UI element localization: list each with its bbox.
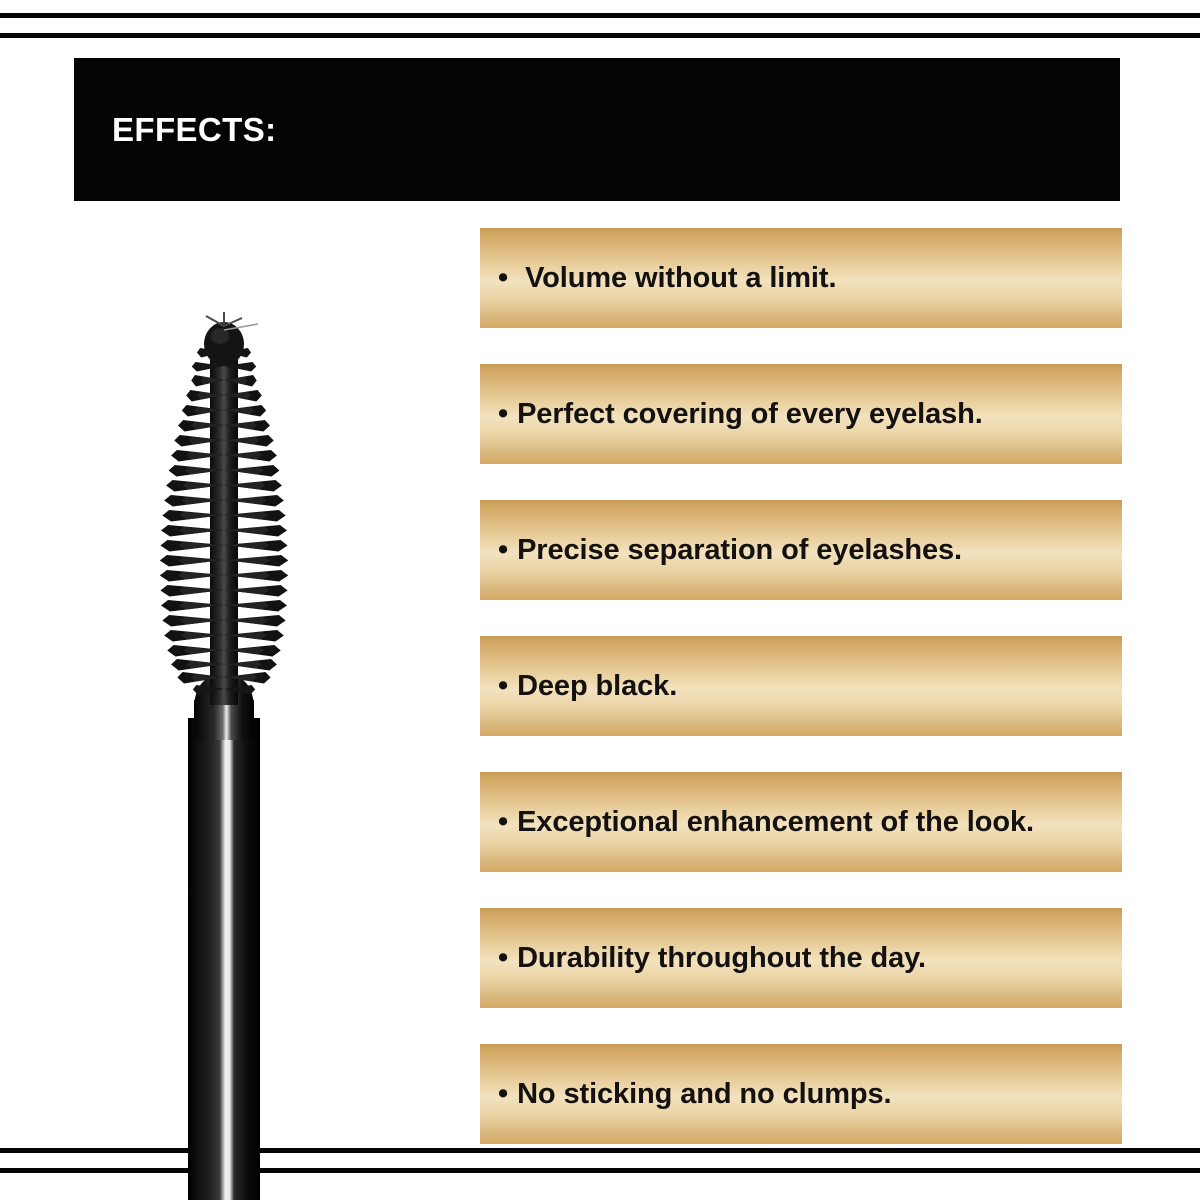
effect-item[interactable]: • Deep black. <box>480 636 1122 736</box>
bullet-icon: • <box>498 944 508 973</box>
top-rule-line-1 <box>0 13 1200 18</box>
effect-label: No sticking and no clumps. <box>517 1080 891 1109</box>
effect-item[interactable]: • Perfect covering of every eyelash. <box>480 364 1122 464</box>
page-title: EFFECTS: <box>74 113 277 146</box>
effect-item[interactable]: • Volume without a limit. <box>480 228 1122 328</box>
effect-label: Perfect covering of every eyelash. <box>517 400 983 429</box>
effect-item[interactable]: • Durability throughout the day. <box>480 908 1122 1008</box>
effect-text-wrap: • Exceptional enhancement of the look. <box>480 808 1034 837</box>
effect-text-wrap: • Precise separation of eyelashes. <box>480 536 962 565</box>
effect-item[interactable]: • Precise separation of eyelashes. <box>480 500 1122 600</box>
effect-item[interactable]: • Exceptional enhancement of the look. <box>480 772 1122 872</box>
bullet-icon: • <box>498 808 508 837</box>
header-banner: EFFECTS: <box>74 58 1120 201</box>
bullet-icon: • <box>498 536 508 565</box>
effect-item[interactable]: • No sticking and no clumps. <box>480 1044 1122 1144</box>
effect-text-wrap: • Durability throughout the day. <box>480 944 926 973</box>
effect-label: Precise separation of eyelashes. <box>517 536 962 565</box>
bullet-icon: • <box>498 400 508 429</box>
effect-text-wrap: • No sticking and no clumps. <box>480 1080 892 1109</box>
bullet-icon: • <box>498 264 508 293</box>
effect-label: Deep black. <box>517 672 677 701</box>
effects-list: • Volume without a limit. • Perfect cove… <box>480 228 1122 1144</box>
bullet-icon: • <box>498 1080 508 1109</box>
effect-label: Exceptional enhancement of the look. <box>517 808 1034 837</box>
mascara-wand-illustration <box>150 300 370 1200</box>
effect-text-wrap: • Perfect covering of every eyelash. <box>480 400 983 429</box>
effect-text-wrap: • Deep black. <box>480 672 677 701</box>
bullet-icon: • <box>498 672 508 701</box>
effect-text-wrap: • Volume without a limit. <box>480 264 836 293</box>
top-rule-line-2 <box>0 33 1200 38</box>
effect-label: Volume without a limit. <box>525 264 836 293</box>
effect-label: Durability throughout the day. <box>517 944 926 973</box>
